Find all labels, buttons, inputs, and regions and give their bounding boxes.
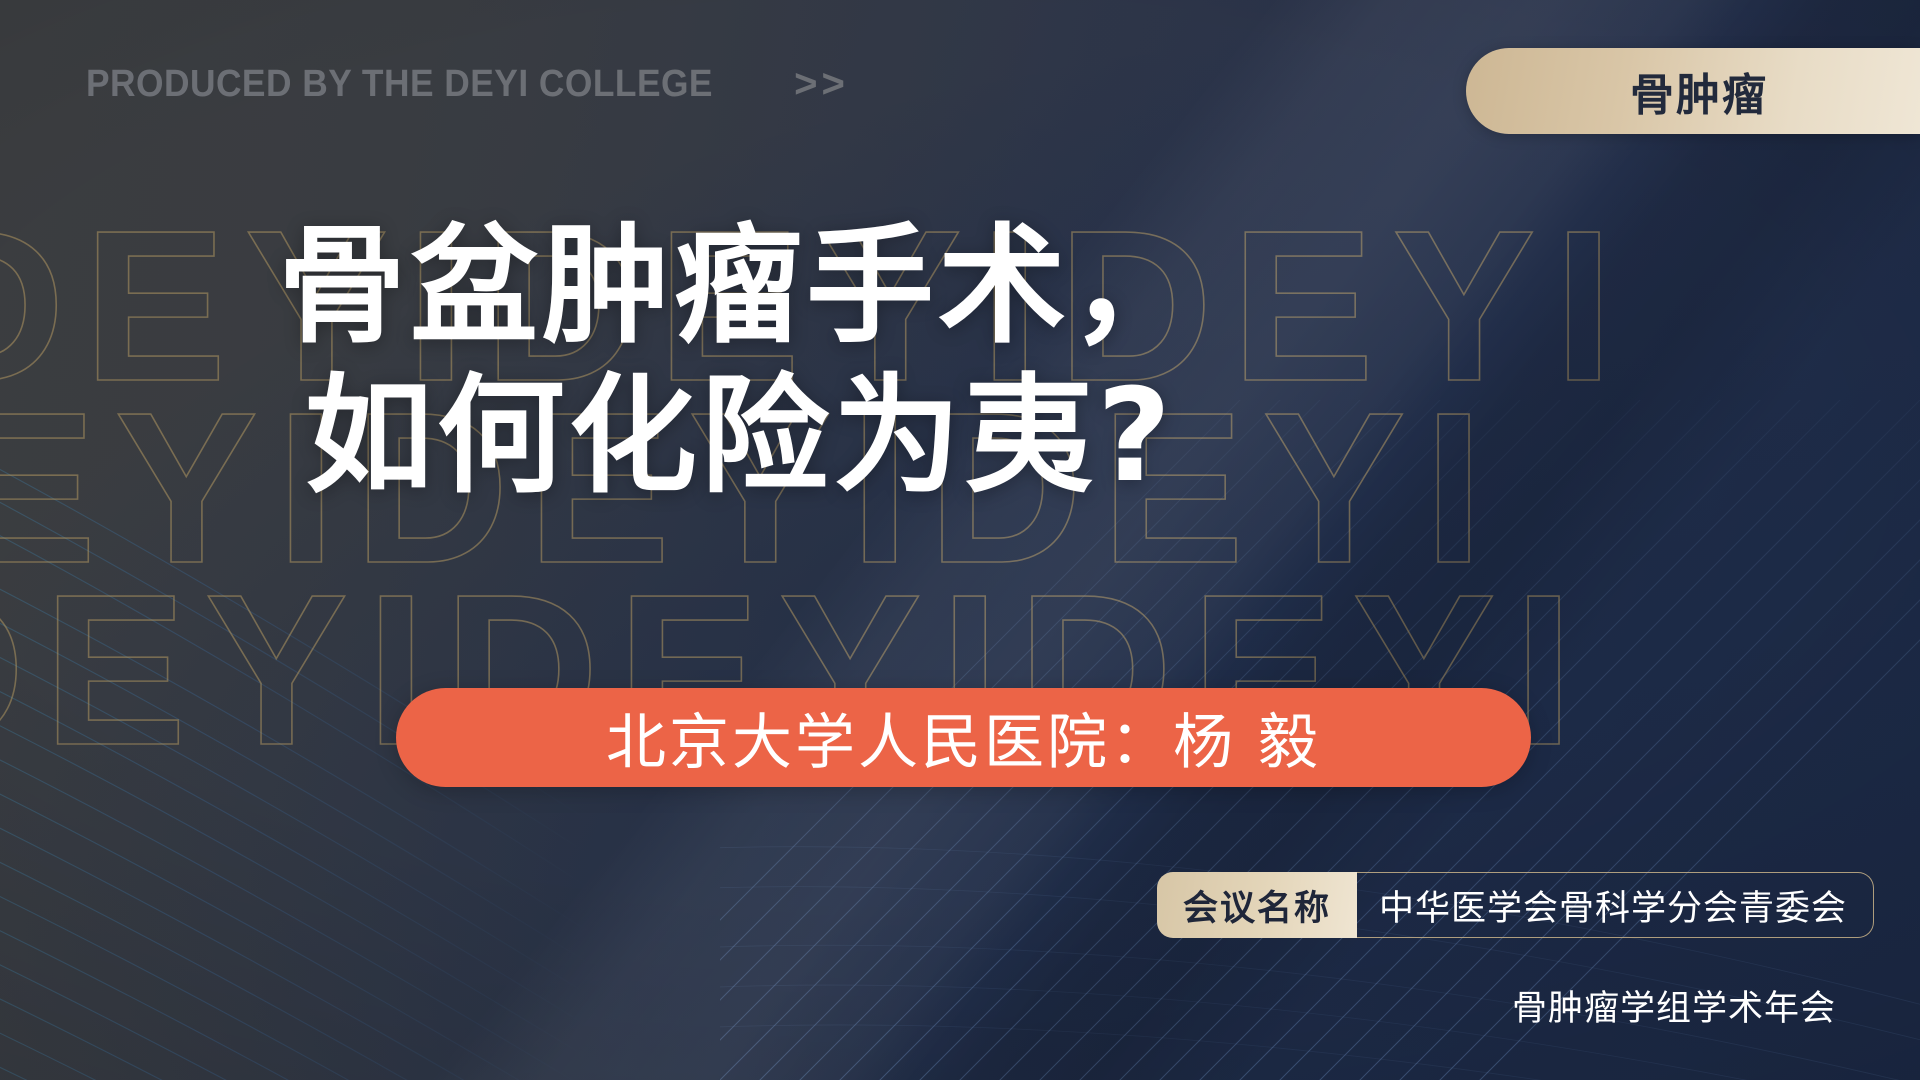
title-line-1: 骨盆肿瘤手术， [0,212,1480,362]
conference-name-box: 中华医学会骨科学分会青委会 [1357,872,1874,938]
slide-canvas: DEYIDEYIDEYI DEYIDEYIDEYI DEYIDEYIDEYI P… [0,0,1920,1080]
speaker-label: 北京大学人民医院：杨 毅 [606,694,1321,781]
produced-by-label: PRODUCED BY THE DEYI COLLEGE [86,63,713,106]
conference-tag: 会议名称 [1157,872,1357,938]
topic-badge: 骨肿瘤 [1466,48,1920,134]
page-title: 骨盆肿瘤手术， 如何化险为夷? [0,212,1480,512]
header-credit: PRODUCED BY THE DEYI COLLEGE >> [86,62,849,107]
conference-row: 会议名称 中华医学会骨科学分会青委会 [1157,872,1874,938]
sub-conference-label: 骨肿瘤学组学术年会 [1512,980,1836,1031]
conference-tag-label: 会议名称 [1183,880,1331,931]
title-line-2: 如何化险为夷? [0,362,1480,512]
conference-name-label: 中华医学会骨科学分会青委会 [1379,880,1847,931]
decorative-arc-lines-left [0,0,820,1080]
topic-badge-label: 骨肿瘤 [1630,59,1768,123]
speaker-pill: 北京大学人民医院：杨 毅 [396,688,1531,787]
chevron-right-icon: >> [794,62,849,107]
